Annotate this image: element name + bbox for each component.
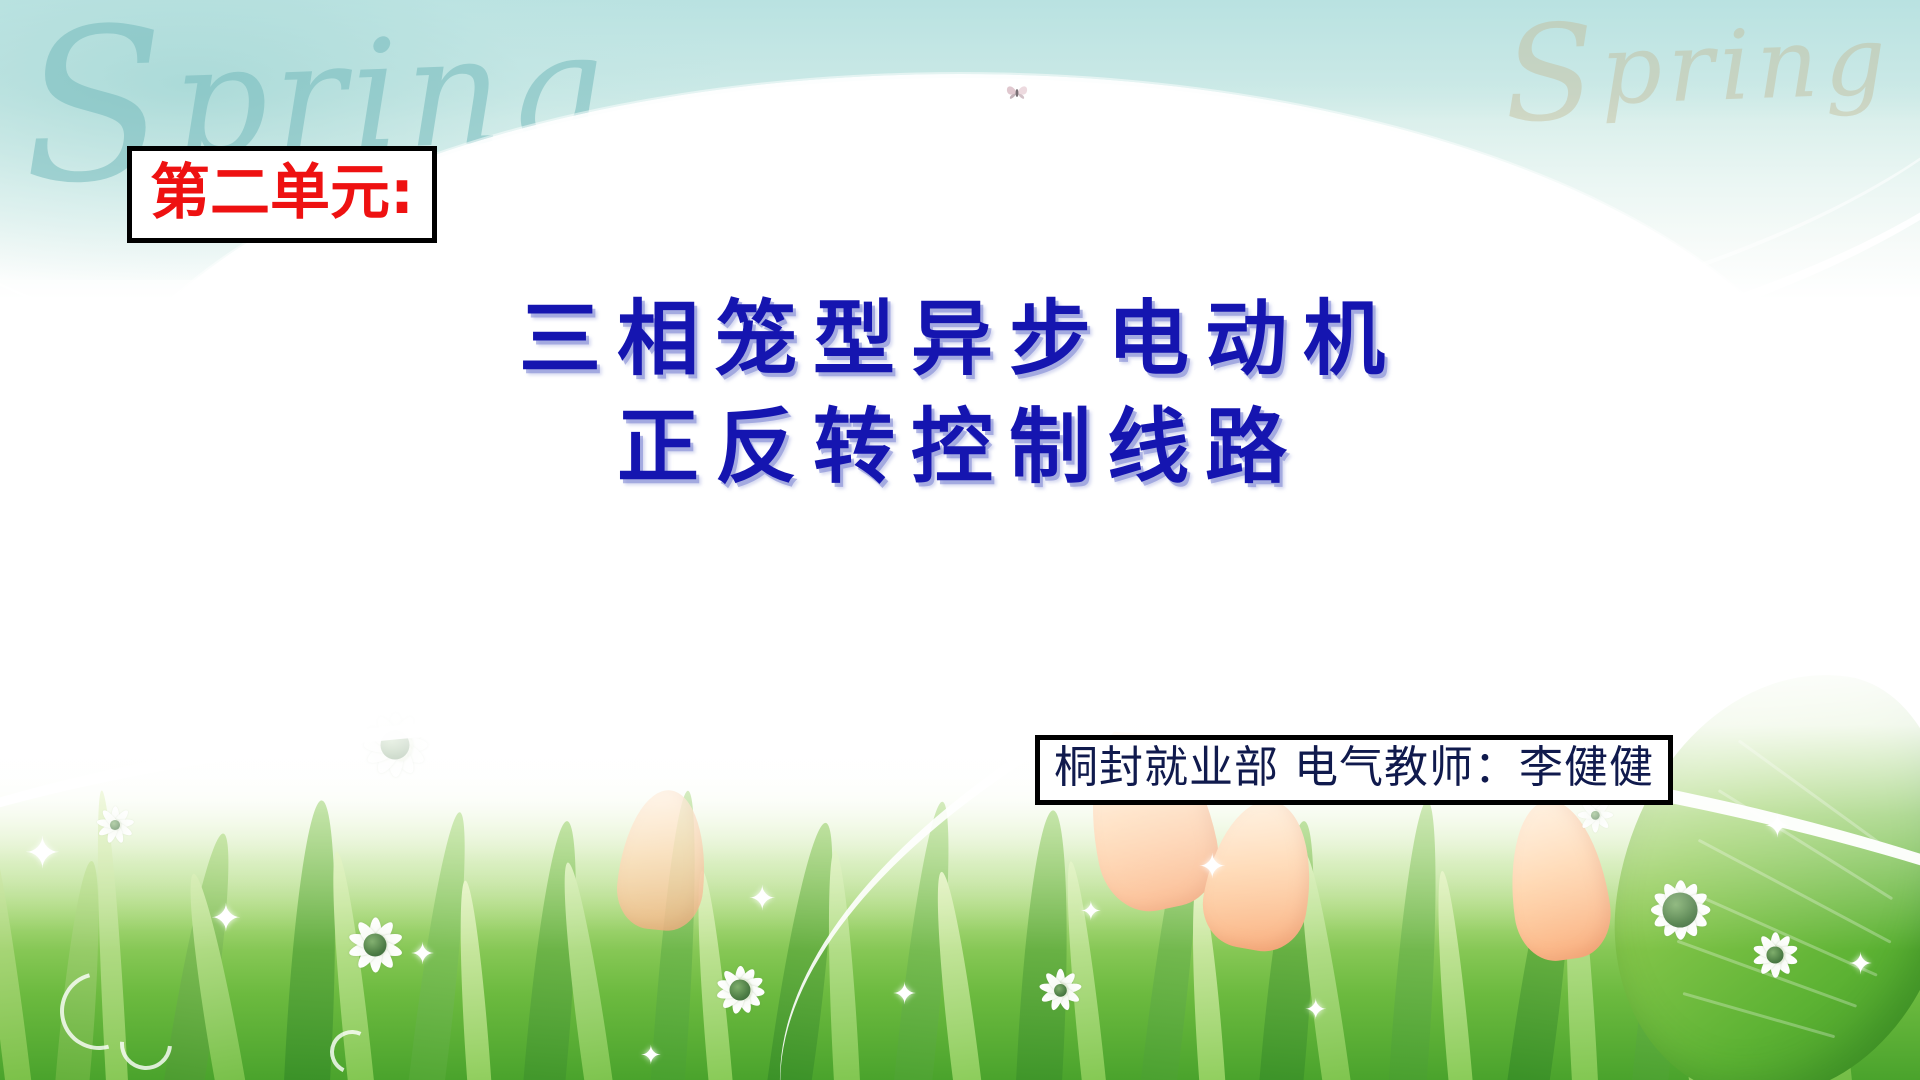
sparkle-icon: ✦ [410, 940, 435, 970]
title-line-1: 三相笼型异步电动机 [0, 285, 1920, 393]
daisy-flower [301, 651, 490, 840]
unit-label-box: 第二单元: [127, 146, 437, 243]
sparkle-icon: ✦ [1198, 850, 1227, 884]
butterfly-icon [1004, 82, 1030, 104]
page-title: 三相笼型异步电动机 正反转控制线路 [0, 285, 1920, 501]
sparkle-icon: ✦ [1848, 950, 1873, 980]
daisy-flower [1026, 956, 1094, 1024]
daisy-flower [1732, 912, 1818, 998]
unit-label-text: 第二单元: [150, 163, 414, 223]
title-line-2: 正反转控制线路 [0, 393, 1920, 501]
sparkle-icon: ✦ [748, 882, 777, 916]
sparkle-icon: ✦ [24, 832, 61, 876]
daisy-flower [688, 938, 793, 1043]
sparkle-icon: ✦ [640, 1042, 662, 1068]
daisy-flower [90, 800, 140, 850]
watermark-spring-right: Spring [1502, 0, 1895, 153]
background-floral-border: ✦ ✦ ✦ ✦ ✦ ✦ ✦ ✦ ✦ ✦ ✦ [0, 650, 1920, 1080]
sparkle-icon: ✦ [1764, 810, 1791, 842]
author-credit-box: 桐封就业部 电气教师：李健健 [1035, 735, 1673, 805]
author-credit-text: 桐封就业部 电气教师：李健健 [1054, 746, 1654, 790]
sparkle-icon: ✦ [1304, 996, 1327, 1024]
sparkle-icon: ✦ [210, 900, 242, 938]
sparkle-icon: ✦ [1080, 898, 1102, 924]
watermark-right-rest: pring [1599, 4, 1894, 126]
sparkle-icon: ✦ [892, 980, 917, 1010]
watermark-right-capital: S [1502, 0, 1604, 153]
presentation-slide: Spring Spring [0, 0, 1920, 1080]
